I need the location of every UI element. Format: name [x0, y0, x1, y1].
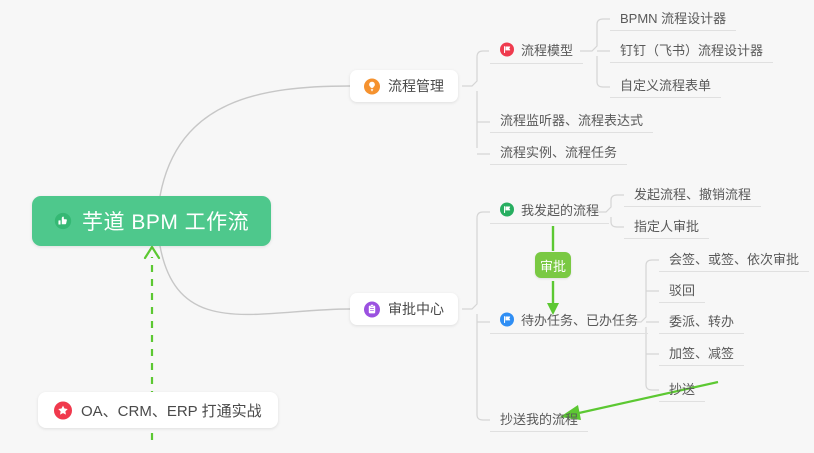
wire-pm-spine	[462, 57, 477, 148]
leaf-label-cc-to-me: 抄送我的流程	[500, 409, 578, 428]
leaf-label-dingtalk-designer: 钉钉（飞书）流程设计器	[620, 40, 763, 59]
sub-label-process-model: 流程模型	[521, 40, 573, 59]
sub-node-todo-done-tasks[interactable]: 待办任务、已办任务	[490, 310, 648, 334]
lightbulb-icon	[364, 78, 380, 94]
wire-model-form	[597, 82, 610, 87]
leaf-label-start-cancel-process: 发起流程、撤销流程	[634, 184, 751, 203]
wire-init-start	[611, 195, 624, 200]
approval-badge-label: 审批	[540, 256, 566, 275]
leaf-label-listener-expression: 流程监听器、流程表达式	[500, 110, 643, 129]
wire-root-to-process-management	[160, 86, 350, 196]
leaf-label-custom-form: 自定义流程表单	[620, 75, 711, 94]
leaf-node-reject[interactable]: 驳回	[659, 281, 705, 303]
branch-node-approval-center[interactable]: 审批中心	[350, 293, 458, 325]
leaf-label-reject: 驳回	[669, 280, 695, 299]
leaf-node-delegate-transfer[interactable]: 委派、转办	[659, 312, 744, 334]
leaf-node-assignee-approval[interactable]: 指定人审批	[624, 217, 709, 239]
floating-node-integration-practice[interactable]: OA、CRM、ERP 打通实战	[38, 392, 278, 428]
leaf-label-instance-task: 流程实例、流程任务	[500, 142, 617, 161]
thumbs-up-icon	[54, 212, 72, 230]
leaf-node-dingtalk-designer[interactable]: 钉钉（飞书）流程设计器	[610, 41, 773, 63]
leaf-label-delegate-transfer: 委派、转办	[669, 311, 734, 330]
root-label: 芋道 BPM 工作流	[82, 206, 249, 236]
blue-flag-icon	[500, 313, 514, 327]
leaf-node-cc[interactable]: 抄送	[659, 380, 705, 402]
sub-label-my-initiated: 我发起的流程	[521, 200, 599, 219]
leaf-node-listener-expression[interactable]: 流程监听器、流程表达式	[490, 111, 653, 133]
leaf-label-assignee-approval: 指定人审批	[634, 216, 699, 235]
wire-model-bpmn	[597, 19, 610, 24]
wire-ac-to-initiated	[477, 212, 490, 218]
leaf-node-add-remove-sign[interactable]: 加签、减签	[659, 344, 744, 366]
arrow-integration-to-root-head	[145, 247, 159, 258]
leaf-node-instance-task[interactable]: 流程实例、流程任务	[490, 143, 627, 165]
red-flag-icon	[500, 43, 514, 57]
branch-label-process-management: 流程管理	[388, 76, 444, 96]
branch-node-process-management[interactable]: 流程管理	[350, 70, 458, 102]
sub-label-todo-done-tasks: 待办任务、已办任务	[521, 310, 638, 329]
leaf-label-bpmn-designer: BPMN 流程设计器	[620, 8, 726, 27]
wire-todo-cc	[646, 385, 659, 390]
mindmap-canvas: 芋道 BPM 工作流 流程管理 流程模型 BPMN 流程设计器 钉钉（飞书）流程	[0, 0, 814, 453]
leaf-label-multi-sign: 会签、或签、依次审批	[669, 249, 799, 268]
floating-label-integration-practice: OA、CRM、ERP 打通实战	[81, 400, 262, 421]
leaf-node-custom-form[interactable]: 自定义流程表单	[610, 76, 721, 98]
star-icon	[54, 401, 72, 419]
wire-pm-bracket	[477, 51, 489, 57]
wire-todo-multi	[646, 260, 659, 265]
leaf-label-add-remove-sign: 加签、减签	[669, 343, 734, 362]
sub-node-process-model[interactable]: 流程模型	[490, 40, 583, 64]
leaf-label-cc: 抄送	[669, 379, 695, 398]
approval-badge[interactable]: 审批	[535, 252, 571, 278]
sub-node-my-initiated[interactable]: 我发起的流程	[490, 200, 609, 224]
leaf-node-multi-sign[interactable]: 会签、或签、依次审批	[659, 250, 809, 272]
wire-root-to-approval-center	[160, 246, 350, 314]
leaf-node-bpmn-designer[interactable]: BPMN 流程设计器	[610, 9, 736, 31]
green-flag-icon	[500, 203, 514, 217]
wire-ac-spine	[462, 218, 477, 415]
wire-init-assign	[611, 222, 624, 227]
root-node[interactable]: 芋道 BPM 工作流	[32, 196, 271, 246]
leaf-node-cc-to-me[interactable]: 抄送我的流程	[490, 410, 588, 432]
branch-label-approval-center: 审批中心	[388, 299, 444, 319]
wire-ac-to-cc	[477, 415, 490, 420]
leaf-node-start-cancel-process[interactable]: 发起流程、撤销流程	[624, 185, 761, 207]
clipboard-icon	[364, 301, 380, 317]
